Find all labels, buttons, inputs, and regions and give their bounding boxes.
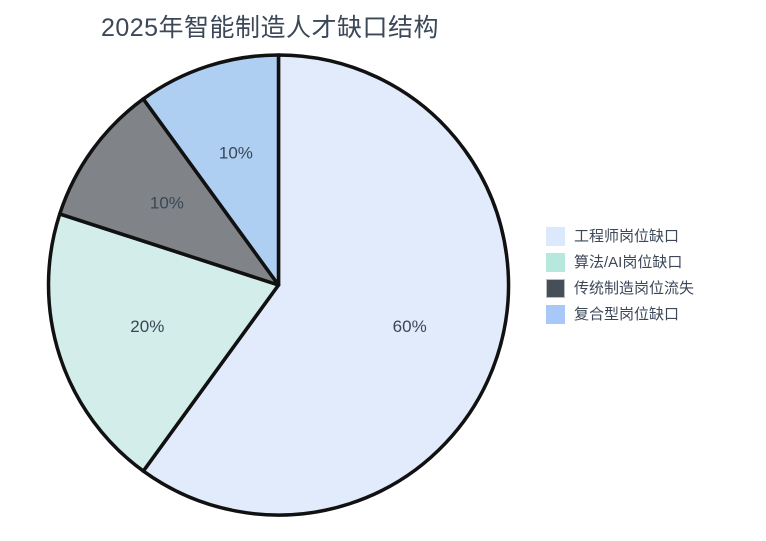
pie-slice-label-0: 60% xyxy=(393,317,427,336)
legend-label-2: 传统制造岗位流失 xyxy=(574,281,694,296)
legend-label-3: 复合型岗位缺口 xyxy=(574,307,679,322)
legend-swatch-icon-2 xyxy=(546,279,565,298)
chart-legend: 工程师岗位缺口 算法/AI岗位缺口 传统制造岗位流失 复合型岗位缺口 xyxy=(546,226,694,325)
legend-item-2[interactable]: 传统制造岗位流失 xyxy=(546,278,694,299)
legend-label-1: 算法/AI岗位缺口 xyxy=(574,255,682,270)
pie-chart-figure: 2025年智能制造人才缺口结构 60%20%10%10% 工程师岗位缺口 算法/… xyxy=(0,0,766,541)
pie-slice-label-2: 10% xyxy=(150,193,184,212)
pie-slices-group xyxy=(49,55,509,515)
legend-item-0[interactable]: 工程师岗位缺口 xyxy=(546,226,694,247)
legend-swatch-icon-3 xyxy=(546,305,565,324)
legend-item-1[interactable]: 算法/AI岗位缺口 xyxy=(546,252,694,273)
legend-swatch-icon-0 xyxy=(546,227,565,246)
legend-swatch-icon-1 xyxy=(546,253,565,272)
pie-slice-label-3: 10% xyxy=(219,143,253,162)
legend-item-3[interactable]: 复合型岗位缺口 xyxy=(546,304,694,325)
pie-slice-label-1: 20% xyxy=(130,317,164,336)
legend-label-0: 工程师岗位缺口 xyxy=(574,229,679,244)
